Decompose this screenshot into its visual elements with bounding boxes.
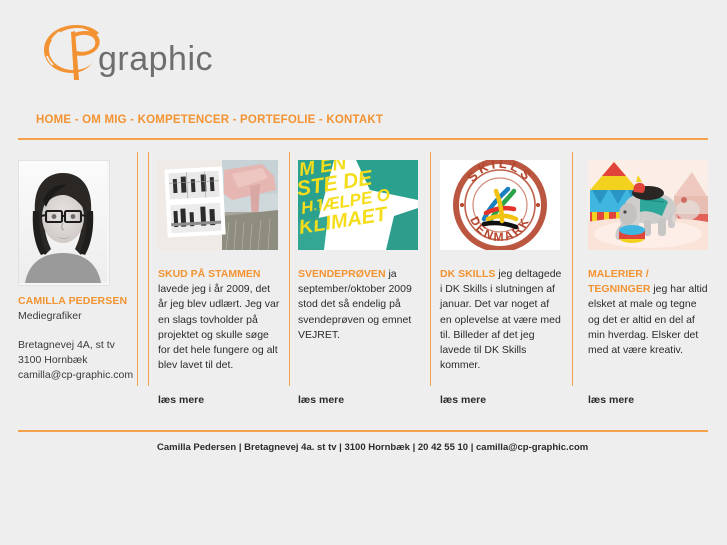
column-1-text: SKUD PÅ STAMMEN lavede jeg i år 2009, de… [158,267,280,373]
column-divider-0b [148,152,149,386]
read-more-link-2[interactable]: læs mere [298,394,344,406]
sidebar-name: CAMILLA PEDERSEN [18,294,136,309]
thumbnail-dk-skills[interactable]: SKILLS DENMARK [440,160,560,250]
skills-denmark-stamp-logo-image: SKILLS DENMARK [440,160,560,250]
page-root: graphic HOME - OM MIG - KOMPETENCER - PO… [0,0,727,545]
sidebar-email[interactable]: camilla@cp-graphic.com [18,368,136,383]
footer-text: Camilla Pedersen | Bretagnevej 4a. st tv… [157,442,588,453]
avatar [18,160,110,286]
footer-divider-rule [18,430,708,432]
sidebar-role: Mediegrafiker [18,309,136,324]
footer-contact: Camilla Pedersen | Bretagnevej 4a. st tv… [157,442,588,453]
column-1-heading: SKUD PÅ STAMMEN [158,268,260,280]
thumbnail-skud-paa-stammen[interactable] [158,160,278,250]
column-3-body: jeg deltagede i DK Skills i slutningen a… [440,268,561,371]
column-divider-3 [572,152,573,386]
content-column-1: SKUD PÅ STAMMEN lavede jeg i år 2009, de… [158,160,280,373]
header-divider-rule [18,138,708,140]
column-4-heading: MALERIER / TEGNINGER [588,268,650,295]
content-column-4: MALERIER / TEGNINGER jeg har altid elske… [588,160,710,358]
column-2-text: SVENDEPRØVEN ja september/oktober 2009 s… [298,267,420,343]
content-column-3: SKILLS DENMARK [440,160,562,373]
yellow-type-teal-poster-image: M EN STE DE HJÆLPE O KLIMAET [298,160,418,250]
column-divider-2 [430,152,431,386]
cp-monogram-icon: graphic [32,18,232,80]
spacer [18,324,136,338]
thumbnail-svendeproeven[interactable]: M EN STE DE HJÆLPE O KLIMAET [298,160,418,250]
column-2-heading: SVENDEPRØVEN [298,268,386,280]
photo-collage-pink-structure-image [158,160,278,250]
column-3-text: DK SKILLS jeg deltagede i DK Skills i sl… [440,267,562,373]
thumbnail-malerier-tegninger[interactable] [588,160,708,250]
nav-items[interactable]: HOME - OM MIG - KOMPETENCER - PORTEFOLIE… [36,114,383,126]
portrait-photo [19,161,107,283]
read-more-link-1[interactable]: læs mere [158,394,204,406]
circus-elephant-drawing-image [588,160,708,250]
read-more-link-4[interactable]: læs mere [588,394,634,406]
column-divider-0a [137,152,138,386]
column-4-text: MALERIER / TEGNINGER jeg har altid elske… [588,267,710,358]
sidebar-address-line2: 3100 Hornbæk [18,353,136,368]
main-navigation[interactable]: HOME - OM MIG - KOMPETENCER - PORTEFOLIE… [36,114,383,126]
sidebar-contact-block: CAMILLA PEDERSEN Mediegrafiker Bretagnev… [18,294,136,383]
sidebar-address-line1: Bretagnevej 4A, st tv [18,338,136,353]
site-logo[interactable]: graphic [32,18,232,80]
column-3-heading: DK SKILLS [440,268,495,280]
read-more-link-3[interactable]: læs mere [440,394,486,406]
logo-wordmark: graphic [98,40,213,78]
content-column-2: M EN STE DE HJÆLPE O KLIMAET SVENDEPRØVE… [298,160,420,343]
column-divider-1 [289,152,290,386]
column-1-body: lavede jeg i år 2009, det år jeg blev ud… [158,283,279,371]
